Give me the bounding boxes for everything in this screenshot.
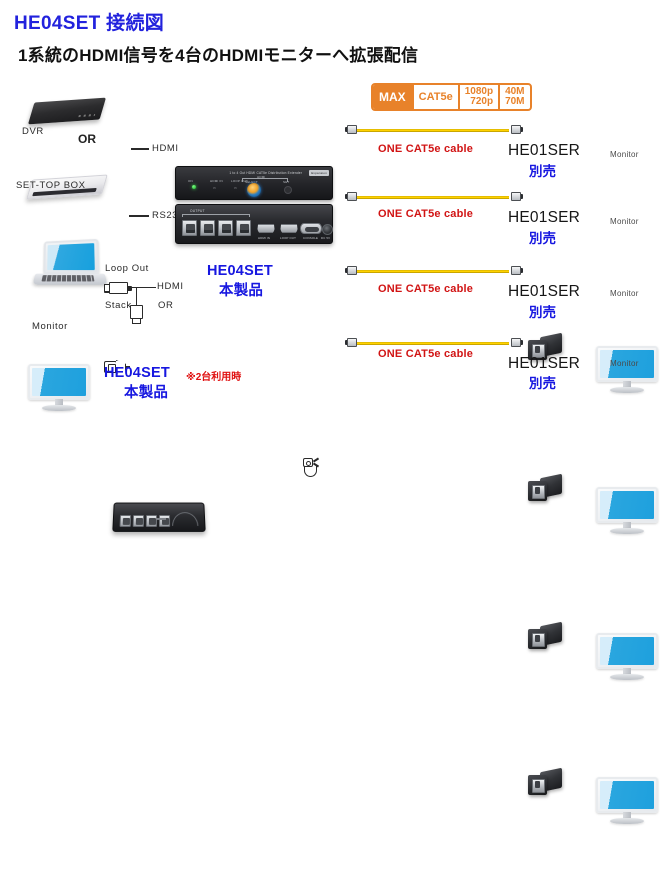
loop-out-lead-horizontal <box>128 287 156 288</box>
cable-4-plug-right <box>511 338 521 347</box>
monitor-2-panel <box>596 487 658 523</box>
cable-2-wire <box>357 196 509 199</box>
power-adapter-icon <box>300 457 322 479</box>
cable-1-wire <box>357 129 509 132</box>
page-subtitle: 1系統のHDMI信号を4台のHDMIモニターへ拡張配信 <box>18 41 418 66</box>
rear-dc-power-jack <box>322 224 333 235</box>
laptop-keyboard <box>32 274 107 285</box>
cable-2-plug-left <box>347 192 357 201</box>
stack-device-vent <box>172 512 198 526</box>
loop-out-connector-body <box>109 282 128 294</box>
output-monitor-4 <box>596 777 658 825</box>
cable-3-plug-left <box>347 266 357 275</box>
receiver-device-4 <box>528 770 562 796</box>
page-title: HE04SET 接続図 <box>14 8 164 35</box>
monitor-3-panel <box>596 633 658 669</box>
receiver-sub-1: 別売 <box>529 160 556 180</box>
output-monitor-2 <box>596 487 658 535</box>
loop-out-hdmi-connector <box>104 282 128 294</box>
cable-4-end-right <box>509 337 523 348</box>
receiver-sub-3: 別売 <box>529 301 556 321</box>
cable-1-end-right <box>509 124 523 135</box>
power-led-label: ON <box>188 179 193 183</box>
power-led <box>192 185 196 189</box>
hdmi-in-led-label: HDMI IN <box>210 179 223 183</box>
select-dial-button[interactable] <box>247 183 261 197</box>
loopout-monitor-label: Monitor <box>32 321 68 332</box>
loop-out-hdmi-label: HDMI <box>157 281 184 292</box>
receiver-name-4: HE01SER <box>508 355 580 373</box>
cable-4-wire <box>357 342 509 345</box>
output-monitor-label-1: Monitor <box>610 150 639 159</box>
monitor-3-screen <box>600 637 654 665</box>
monitor-2-screen <box>600 491 654 519</box>
stack-device-note: ※2台利用時 <box>186 368 241 383</box>
receiver-name-3: HE01SER <box>508 283 580 301</box>
main-device-brandbox: Expansion <box>309 170 329 176</box>
output-monitor-1 <box>596 346 658 394</box>
hdmi-source-label: HDMI <box>152 143 179 154</box>
receiver-device-2 <box>528 476 562 502</box>
cat5e-cable-label-1: ONE CAT5e cable <box>378 143 473 155</box>
stack-connector <box>130 305 143 325</box>
cable-2-end-right <box>509 191 523 202</box>
loop-out-lead-vertical <box>136 287 137 307</box>
rear-rj45-output-3 <box>218 220 233 236</box>
rear-rj45-output-1 <box>182 220 197 236</box>
stack-device-icon <box>112 503 205 532</box>
rear-rj45-output-4 <box>236 220 251 236</box>
monitor-3-foot <box>610 674 644 680</box>
cat5e-cable-2 <box>345 191 523 203</box>
stack-rj45-port-1 <box>120 515 131 527</box>
receiver-4-front <box>528 775 547 795</box>
monitor-2-foot <box>610 528 644 534</box>
cat5e-cable-3 <box>345 265 523 277</box>
set-button-label: SET <box>283 180 289 184</box>
rear-rj45-output-2 <box>200 220 215 236</box>
monitor-1-foot <box>610 387 644 393</box>
source-or-label: OR <box>78 132 96 146</box>
monitor-4-foot <box>610 818 644 824</box>
stack-label: Stack <box>105 300 132 311</box>
monitor-4-panel <box>596 777 658 813</box>
cat5e-cable-label-4: ONE CAT5e cable <box>378 348 473 360</box>
set-button[interactable] <box>284 186 292 194</box>
receiver-device-3 <box>528 624 562 650</box>
main-device-name: HE04SET <box>207 263 273 279</box>
main-device-rear-panel: OUTPUT HDMI IN LOOP OUT CONSOLE DC 5V <box>175 204 333 244</box>
output-monitor-label-3: Monitor <box>610 289 639 298</box>
stack-connector-head <box>132 318 141 324</box>
stack-device-slot <box>156 518 166 520</box>
rear-console-label: CONSOLE <box>303 236 318 240</box>
loop-out-label: Loop Out <box>105 263 149 274</box>
main-device-icon: 1 to 4 Out HDMI CAT5e Distribution Exten… <box>175 166 333 244</box>
output-group-bracket <box>182 214 250 217</box>
receiver-3-front <box>528 629 547 649</box>
spec-badge-resolution: 1080p 720p <box>458 85 498 109</box>
spec-resolution-bottom: 720p <box>470 97 493 108</box>
output-monitor-label-4: Monitor <box>610 359 639 368</box>
monitor-foot <box>42 405 76 411</box>
laptop-lid <box>43 239 99 275</box>
rear-console-port <box>300 223 322 234</box>
output-monitor-3 <box>596 633 658 681</box>
cat5e-cable-label-3: ONE CAT5e cable <box>378 283 473 295</box>
monitor-panel <box>28 364 90 400</box>
monitor-4-screen <box>600 781 654 809</box>
receiver-sub-2: 別売 <box>529 227 556 247</box>
dvr-device-icon <box>28 98 106 125</box>
spec-distance-bottom: 70M <box>505 97 524 108</box>
rear-hdmi-in-port <box>257 224 275 233</box>
diagram-canvas: HE04SET 接続図 1系統のHDMI信号を4台のHDMIモニターへ拡張配信 … <box>0 0 667 435</box>
spec-badge: MAX CAT5e 1080p 720p 40M 70M <box>371 83 532 111</box>
stack-connector-body <box>130 305 143 319</box>
cable-3-end-right <box>509 265 523 276</box>
laptop-icon <box>32 240 106 290</box>
cable-1-plug-right <box>511 125 521 134</box>
spec-badge-distance: 40M 70M <box>498 85 529 109</box>
dvr-label: DVR <box>22 126 44 137</box>
stack-rj45-port-3 <box>146 515 157 527</box>
cable-3-wire <box>357 270 509 273</box>
rear-loop-out-label: LOOP OUT <box>280 236 296 240</box>
main-device-sub: 本製品 <box>219 279 263 300</box>
hdmi-group-label: HDMI <box>257 175 265 179</box>
rs232-lead-line <box>129 215 149 217</box>
loopout-monitor-icon <box>28 364 90 412</box>
power-adapter-cord <box>304 466 317 477</box>
receiver-sub-4: 別売 <box>529 372 556 392</box>
monitor-screen <box>32 368 86 396</box>
stack-rj45-port-2 <box>133 515 144 527</box>
set-top-box-label: SET-TOP BOX <box>16 180 86 191</box>
main-device-front-brand: 1 to 4 Out HDMI CAT5e Distribution Exten… <box>229 171 302 175</box>
main-device-front-panel: 1 to 4 Out HDMI CAT5e Distribution Exten… <box>175 166 333 200</box>
laptop-screen <box>47 243 95 270</box>
cat5e-cable-label-2: ONE CAT5e cable <box>378 208 473 220</box>
receiver-name-1: HE01SER <box>508 142 580 160</box>
rear-loop-out-port <box>280 224 298 233</box>
stack-device-name: HE04SET <box>104 365 170 381</box>
cable-1-plug-left <box>347 125 357 134</box>
spec-badge-max: MAX <box>373 85 412 109</box>
hdmi-lead-line <box>131 148 149 150</box>
stack-rj45-port-4 <box>159 515 170 527</box>
rear-dc-label: DC 5V <box>321 236 330 240</box>
receiver-2-front <box>528 481 547 501</box>
cat5e-cable-1 <box>345 124 523 136</box>
cable-4-plug-left <box>347 338 357 347</box>
receiver-name-2: HE01SER <box>508 209 580 227</box>
rear-hdmi-in-label: HDMI IN <box>258 236 270 240</box>
spec-badge-cable-type: CAT5e <box>412 85 458 109</box>
cable-3-plug-right <box>511 266 521 275</box>
rear-output-label: OUTPUT <box>190 209 205 213</box>
cable-2-plug-right <box>511 192 521 201</box>
stack-device-sub: 本製品 <box>124 381 168 402</box>
output-monitor-label-2: Monitor <box>610 217 639 226</box>
loop-out-or-label: OR <box>158 300 173 311</box>
